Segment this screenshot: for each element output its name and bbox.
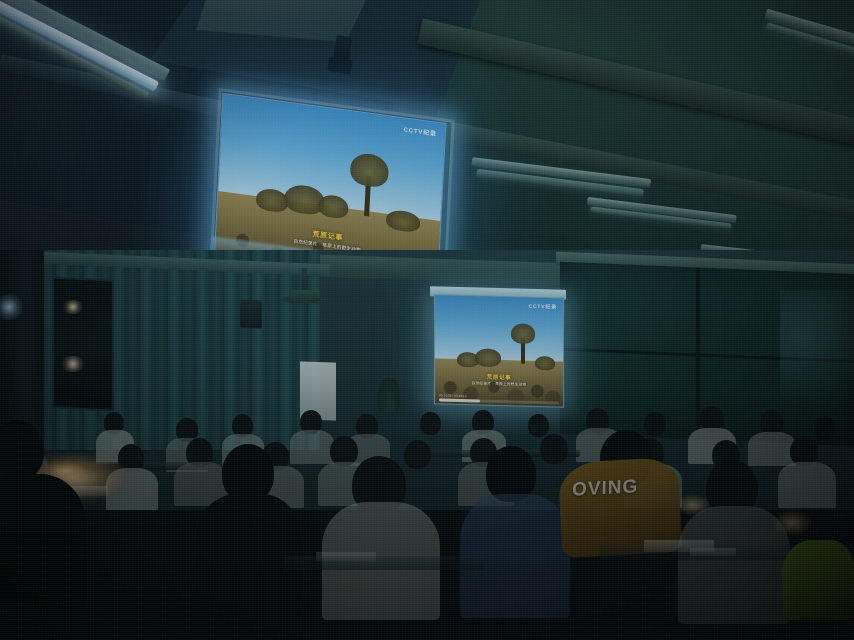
wall-video-bush bbox=[535, 356, 555, 371]
student-head-front bbox=[0, 420, 44, 480]
wall-video-bush bbox=[475, 348, 501, 367]
green-backpack bbox=[782, 540, 854, 620]
student-head bbox=[420, 412, 441, 435]
ceiling-projector bbox=[290, 290, 320, 303]
wall-video-watermark: CCTV纪录 bbox=[529, 303, 557, 311]
wall-video-tree-canopy bbox=[511, 323, 535, 344]
wall-video-title: 荒原记事 bbox=[487, 373, 511, 382]
student-head bbox=[528, 414, 549, 437]
lecture-hall-photo: CCTV纪录 荒原记事 自然纪录片 · 草原上的野生动物 00:14:32 / … bbox=[0, 0, 854, 640]
exterior-light bbox=[60, 356, 86, 372]
desk-papers bbox=[316, 552, 376, 561]
student-head bbox=[814, 416, 836, 440]
desk-papers bbox=[690, 548, 736, 556]
student-head bbox=[540, 434, 568, 464]
student-torso bbox=[748, 432, 796, 466]
student-torso-front bbox=[196, 494, 302, 614]
student-head bbox=[644, 412, 666, 436]
front-desk bbox=[284, 556, 484, 570]
jersey-lettering: OVING bbox=[572, 476, 639, 502]
student-torso-front bbox=[678, 506, 790, 624]
exterior-light bbox=[62, 300, 84, 314]
student-audience bbox=[0, 390, 854, 640]
blackboard-horizontal-divider bbox=[560, 348, 854, 364]
student-torso bbox=[290, 430, 334, 464]
student-torso-front bbox=[0, 474, 86, 604]
student-torso bbox=[778, 462, 836, 508]
student-head bbox=[404, 440, 431, 469]
wall-speaker bbox=[240, 300, 262, 329]
